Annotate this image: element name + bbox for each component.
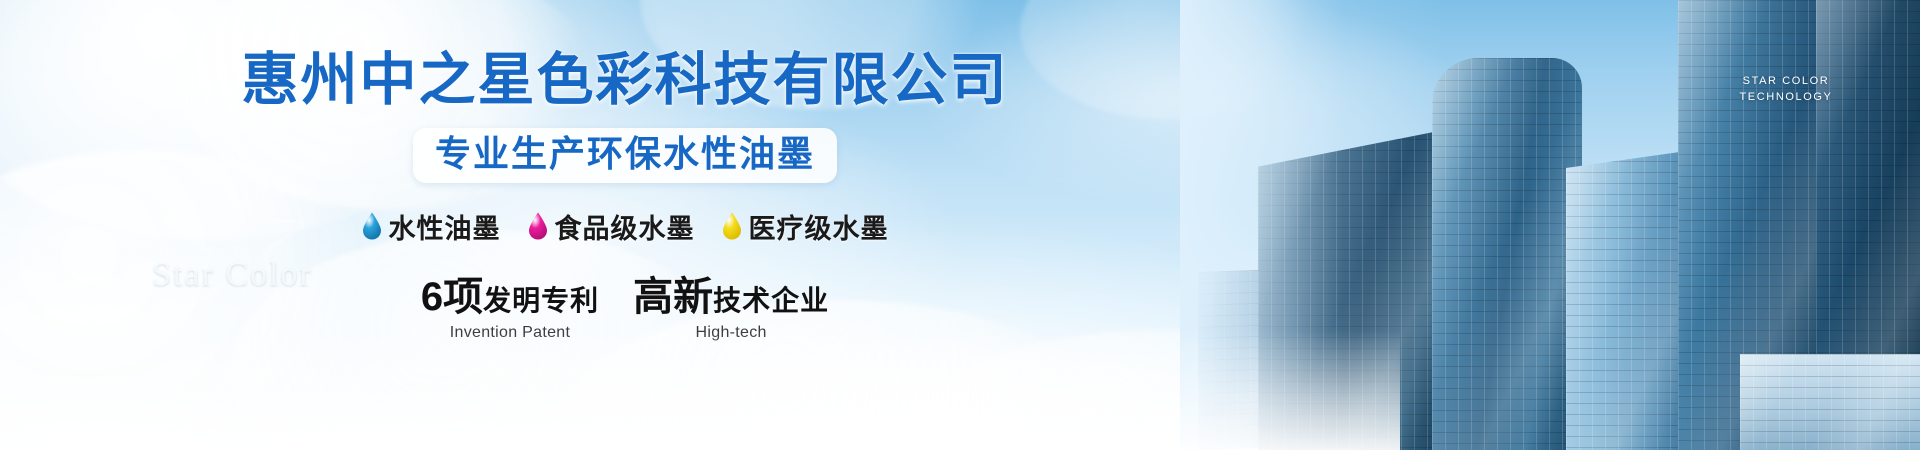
building-logo-text: STAR COLOR TECHNOLOGY bbox=[1726, 74, 1846, 106]
badge-list: 6项 发明专利 Invention Patent 高新 技术企业 High-te… bbox=[421, 277, 829, 342]
building-logo-line2: TECHNOLOGY bbox=[1726, 90, 1846, 106]
water-drop-icon bbox=[362, 212, 382, 240]
feature-list: 水性油墨 食品级水墨 bbox=[362, 207, 889, 246]
feature-item: 食品级水墨 bbox=[528, 207, 695, 246]
feature-item: 医疗级水墨 bbox=[722, 207, 889, 246]
badge-high-tech: 高新 技术企业 High-tech bbox=[633, 277, 829, 342]
badge-english: Invention Patent bbox=[421, 324, 599, 342]
feature-item: 水性油墨 bbox=[362, 207, 501, 246]
badge-cn-line: 6项 发明专利 bbox=[421, 277, 599, 317]
hero-banner: STAR COLOR TECHNOLOGY Star Color 惠州中之星色彩… bbox=[0, 0, 1920, 450]
badge-invention-patent: 6项 发明专利 Invention Patent bbox=[421, 277, 599, 342]
badge-english: High-tech bbox=[633, 324, 829, 342]
badge-subline: 技术企业 bbox=[713, 287, 829, 315]
feature-label: 水性油墨 bbox=[389, 207, 501, 246]
water-drop-icon bbox=[528, 212, 548, 240]
water-drop-icon bbox=[722, 212, 742, 240]
badge-subline: 发明专利 bbox=[483, 287, 599, 315]
badge-headline: 6项 bbox=[421, 277, 483, 317]
badge-cn-line: 高新 技术企业 bbox=[633, 277, 829, 317]
subtitle-pill: 专业生产环保水性油墨 bbox=[413, 128, 837, 183]
banner-content: 惠州中之星色彩科技有限公司 专业生产环保水性油墨 水性油墨 bbox=[0, 0, 1250, 450]
badge-headline: 高新 bbox=[633, 277, 713, 317]
building-logo-line1: STAR COLOR bbox=[1743, 75, 1830, 87]
skyscraper-photo bbox=[1180, 0, 1920, 450]
feature-label: 医疗级水墨 bbox=[749, 207, 889, 246]
feature-label: 食品级水墨 bbox=[555, 207, 695, 246]
subtitle-text: 专业生产环保水性油墨 bbox=[435, 133, 815, 174]
atmospheric-haze bbox=[1180, 0, 1920, 450]
company-title: 惠州中之星色彩科技有限公司 bbox=[242, 52, 1009, 109]
